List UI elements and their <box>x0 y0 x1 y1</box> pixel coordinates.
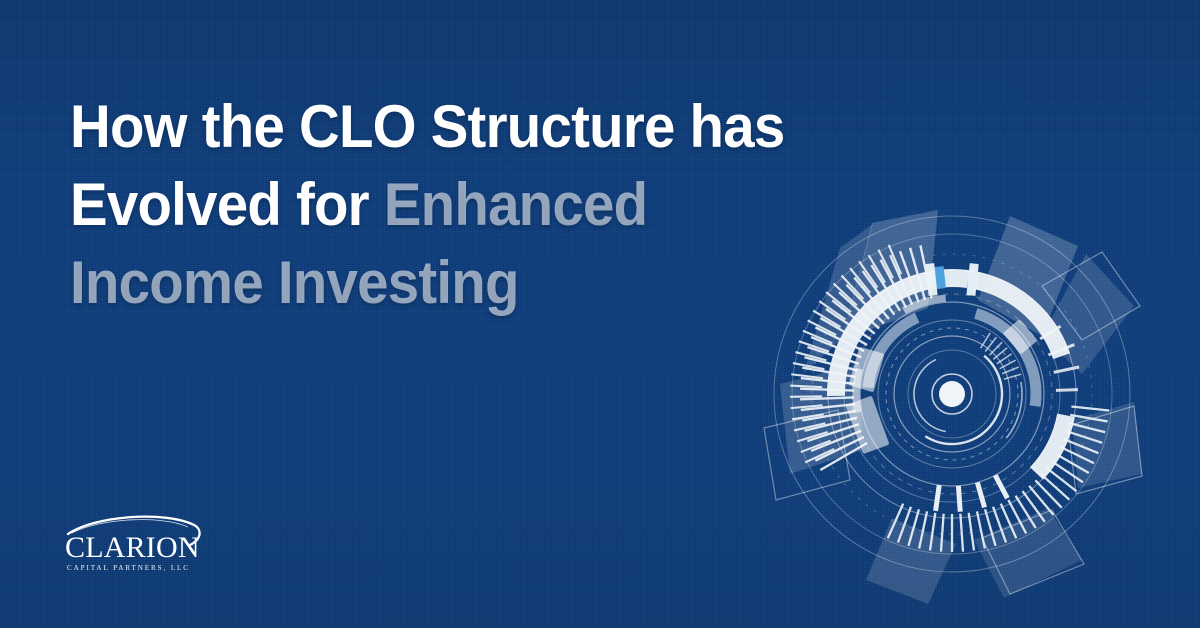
headline-line-2: Evolved for Enhanced <box>70 166 916 244</box>
social-share-banner: How the CLO Structure has Evolved for En… <box>0 0 1200 628</box>
headline: How the CLO Structure has Evolved for En… <box>70 88 970 322</box>
logo-wordmark: CLARION <box>65 531 200 564</box>
headline-line-2-soft: Enhanced <box>384 171 648 238</box>
clarion-logo[interactable]: CLARION CAPITAL PARTNERS, LLC <box>62 508 212 580</box>
headline-line-2-strong: Evolved for <box>70 171 384 238</box>
headline-line-1: How the CLO Structure has <box>70 88 916 166</box>
headline-line-3: Income Investing <box>70 244 916 322</box>
logo-tagline: CAPITAL PARTNERS, LLC <box>67 564 190 572</box>
